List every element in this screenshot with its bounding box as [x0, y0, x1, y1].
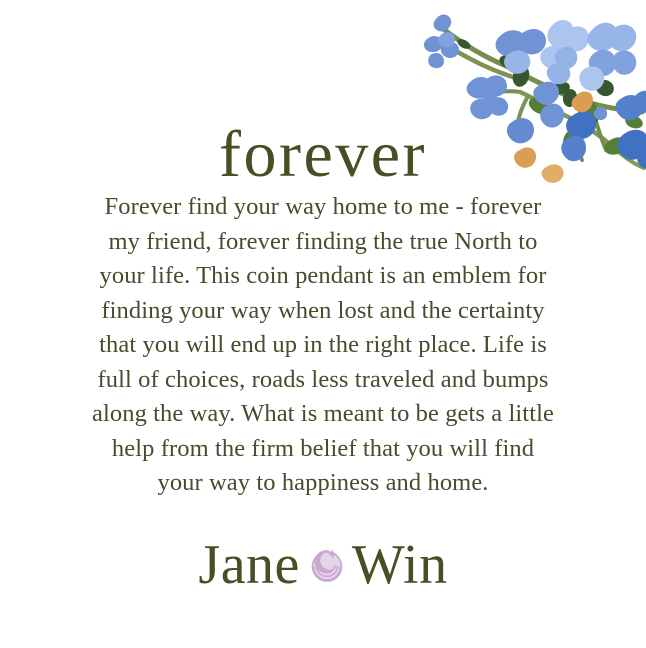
description-container: Forever find your way home to me - forev…	[53, 190, 593, 501]
page-title: forever	[219, 122, 427, 188]
brand-word-win: Win	[352, 533, 448, 597]
brand-word-jane: Jane	[198, 533, 300, 597]
product-description-card: forever Forever find your way home to me…	[0, 0, 646, 648]
description-text: Forever find your way home to me - forev…	[53, 190, 593, 501]
crescent-moon-star-medallion-icon	[304, 542, 350, 588]
brand-logo: Jane Win	[0, 533, 646, 597]
